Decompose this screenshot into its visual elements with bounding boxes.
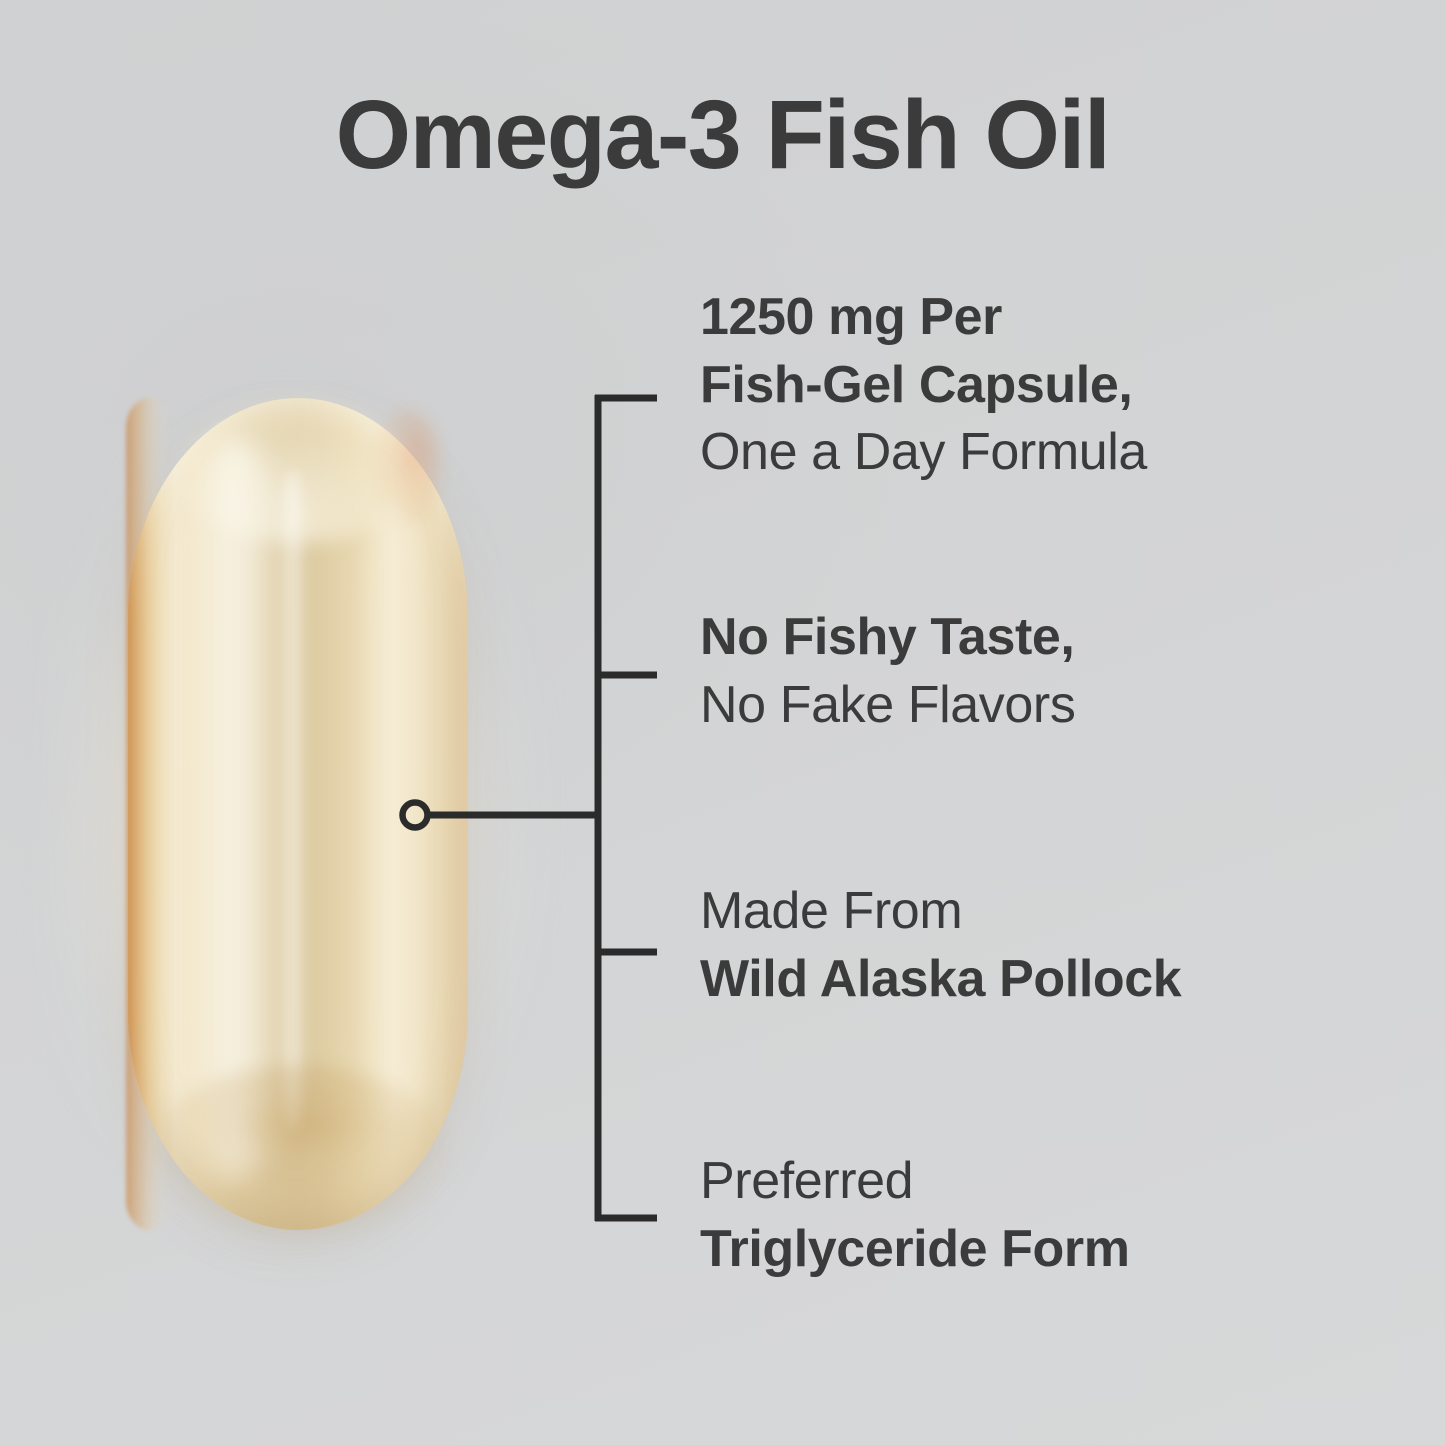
callout-block-2: No Fishy Taste, No Fake Flavors — [700, 604, 1075, 739]
callout-3-bold-line: Wild Alaska Pollock — [700, 946, 1181, 1014]
capsule-body — [128, 398, 468, 1230]
callout-1-bold-line-1: 1250 mg Per — [700, 284, 1147, 352]
callout-2-bold-line: No Fishy Taste, — [700, 604, 1075, 672]
callout-block-4: Preferred Triglyceride Form — [700, 1148, 1130, 1283]
callout-block-3: Made From Wild Alaska Pollock — [700, 878, 1181, 1013]
callout-4-normal-line: Preferred — [700, 1148, 1130, 1216]
callout-2-normal-line: No Fake Flavors — [700, 672, 1075, 740]
page-title: Omega-3 Fish Oil — [0, 84, 1445, 186]
callout-3-normal-line: Made From — [700, 878, 1181, 946]
callout-block-1: 1250 mg Per Fish-Gel Capsule, One a Day … — [700, 284, 1147, 487]
callout-1-bold-line-2: Fish-Gel Capsule, — [700, 352, 1147, 420]
callout-1-normal-line: One a Day Formula — [700, 419, 1147, 487]
callout-4-bold-line: Triglyceride Form — [700, 1216, 1130, 1284]
infographic-canvas: Omega-3 Fish Oil 1250 mg Per Fish-Gel — [0, 0, 1445, 1445]
capsule-image — [128, 398, 468, 1230]
